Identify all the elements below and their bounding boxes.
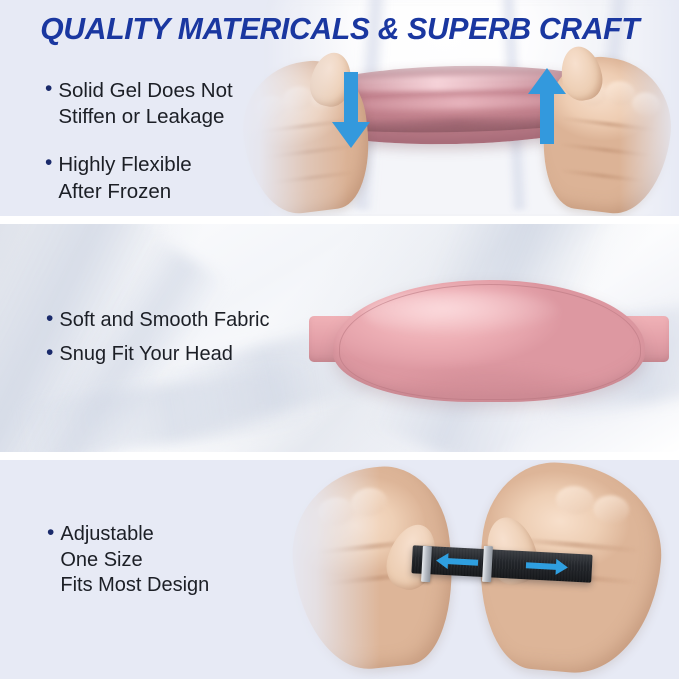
bullet-line: Snug Fit Your Head — [59, 342, 232, 368]
bullet-text: Snug Fit Your Head — [59, 342, 232, 368]
bullet-dot: • — [47, 522, 54, 544]
bullet-text: Soft and Smooth Fabric — [59, 308, 269, 334]
bullet-text: Solid Gel Does Not Stiffen or Leakage — [58, 78, 232, 130]
bullet-line: Solid Gel Does Not — [58, 78, 232, 104]
knuckle — [555, 485, 595, 516]
page-title: QUALITY MATERICALS & SUPERB CRAFT — [40, 11, 639, 47]
bullet-item: • Snug Fit Your Head — [46, 342, 269, 368]
bullet-item: • Adjustable One Size Fits Most Design — [47, 522, 209, 599]
bullet-dot: • — [45, 152, 52, 174]
bullet-list-panel-3: • Adjustable One Size Fits Most Design — [47, 522, 209, 599]
bullet-dot: • — [46, 308, 53, 330]
knuckle — [592, 494, 630, 525]
bullet-item: • Soft and Smooth Fabric — [46, 308, 269, 334]
bullet-dot: • — [46, 342, 53, 364]
bullet-list-panel-1: • Solid Gel Does Not Stiffen or Leakage … — [45, 78, 233, 205]
panel-separator — [0, 216, 679, 224]
bullet-list-panel-2: • Soft and Smooth Fabric • Snug Fit Your… — [46, 308, 269, 367]
pink-eye-mask-photo — [309, 280, 669, 402]
product-infographic: • Solid Gel Does Not Stiffen or Leakage … — [0, 0, 679, 679]
flex-arrow-up-icon — [524, 66, 568, 146]
bullet-text: Highly Flexible After Frozen — [58, 152, 191, 204]
bullet-line: Stiffen or Leakage — [58, 104, 232, 130]
header-banner: QUALITY MATERICALS & SUPERB CRAFT — [0, 0, 679, 58]
bullet-item: • Highly Flexible After Frozen — [45, 152, 233, 204]
bullet-line: Highly Flexible — [58, 152, 191, 178]
bullet-line: One Size — [60, 548, 209, 574]
stretch-arrow-right-icon — [523, 556, 570, 576]
bullet-line: Fits Most Design — [60, 573, 209, 599]
strap-slider-buckle — [421, 546, 432, 582]
strap-slider-buckle — [482, 546, 493, 582]
bullet-item: • Solid Gel Does Not Stiffen or Leakage — [45, 78, 233, 130]
stretch-arrow-left-icon — [434, 551, 481, 571]
hands-stretching-strap-photo — [270, 460, 679, 679]
bullet-line: Soft and Smooth Fabric — [59, 308, 269, 334]
bullet-dot: • — [45, 78, 52, 100]
flex-arrow-down-icon — [328, 70, 372, 150]
bullet-text: Adjustable One Size Fits Most Design — [60, 522, 209, 599]
bullet-line: After Frozen — [58, 179, 191, 205]
photo-left-fade — [270, 460, 380, 679]
panel-separator — [0, 452, 679, 460]
bullet-line: Adjustable — [60, 522, 209, 548]
mask-seam — [339, 284, 641, 400]
eye-mask-body — [333, 280, 645, 402]
